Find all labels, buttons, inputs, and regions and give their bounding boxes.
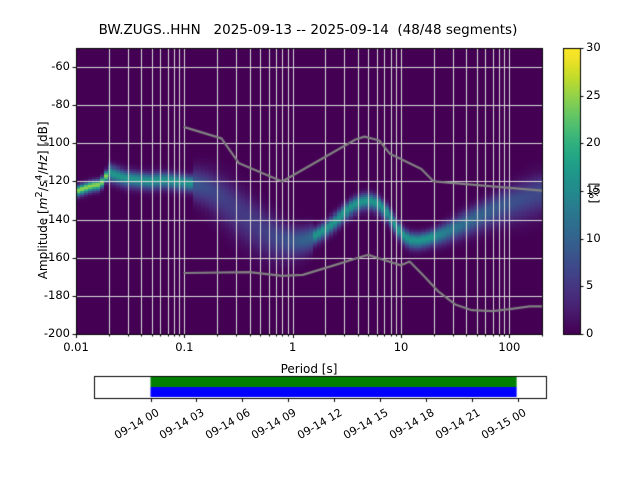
x-tick-4: 100 (479, 340, 539, 354)
colorbar-tick-1: 5 (586, 278, 626, 292)
x-tick-1: 0.1 (154, 340, 214, 354)
x-tick-3: 10 (371, 340, 431, 354)
x-axis-label: Period [s] (76, 362, 542, 376)
ppsd-plot-canvas[interactable] (0, 0, 640, 480)
page-title: BW.ZUGS..HHN 2025-09-13 -- 2025-09-14 (4… (0, 22, 616, 38)
colorbar-tick-2: 10 (586, 231, 626, 245)
colorbar-tick-5: 25 (586, 88, 626, 102)
y-tick-5: -100 (10, 135, 70, 149)
y-tick-2: -160 (10, 250, 70, 264)
y-tick-7: -60 (10, 59, 70, 73)
y-tick-3: -140 (10, 212, 70, 226)
ppsd-figure: BW.ZUGS..HHN 2025-09-13 -- 2025-09-14 (4… (0, 0, 640, 480)
colorbar-tick-0: 0 (586, 326, 626, 340)
colorbar-tick-3: 15 (586, 183, 626, 197)
colorbar-tick-4: 20 (586, 135, 626, 149)
x-tick-2: 1 (263, 340, 323, 354)
colorbar-tick-6: 30 (586, 40, 626, 54)
y-tick-1: -180 (10, 288, 70, 302)
x-tick-0: 0.01 (46, 340, 106, 354)
y-tick-0: -200 (10, 326, 70, 340)
y-tick-6: -80 (10, 97, 70, 111)
y-tick-4: -120 (10, 173, 70, 187)
